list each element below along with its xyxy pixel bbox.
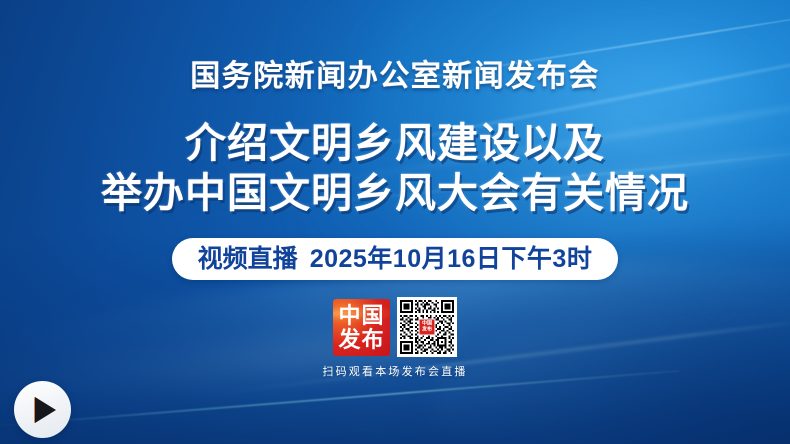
live-broadcast-label: 视频直播 (198, 247, 298, 272)
broadcast-datetime: 2025年10月16日下午3时 (310, 247, 593, 272)
live-broadcast-pill: 视频直播 2025年10月16日下午3时 (172, 238, 619, 280)
codes-row: 中国 发布 (333, 297, 457, 357)
banner-content: 国务院新闻办公室新闻发布会 介绍文明乡风建设以及 举办中国文明乡风大会有关情况 … (0, 0, 790, 444)
play-button[interactable] (14, 381, 71, 438)
qr-center-line-2: 发布 (422, 327, 432, 333)
brand-logo-line-2: 发布 (338, 328, 384, 351)
china-release-logo: 中国 发布 (333, 299, 390, 356)
press-conference-banner: 国务院新闻办公室新闻发布会 介绍文明乡风建设以及 举办中国文明乡风大会有关情况 … (0, 0, 790, 444)
qr-center-brand-logo: 中国 发布 (418, 319, 435, 336)
codes-block: 中国 发布 (322, 297, 467, 379)
headline-line-1: 介绍文明乡风建设以及 (101, 118, 689, 168)
brand-logo-line-1: 中国 (338, 304, 384, 327)
qr-code[interactable]: 中国 发布 (397, 297, 457, 357)
organization-title: 国务院新闻办公室新闻发布会 (190, 62, 600, 92)
headline: 介绍文明乡风建设以及 举办中国文明乡风大会有关情况 (101, 118, 689, 218)
scan-caption: 扫码观看本场发布会直播 (322, 363, 467, 379)
play-triangle-icon (35, 397, 56, 423)
headline-line-2: 举办中国文明乡风大会有关情况 (101, 168, 689, 218)
